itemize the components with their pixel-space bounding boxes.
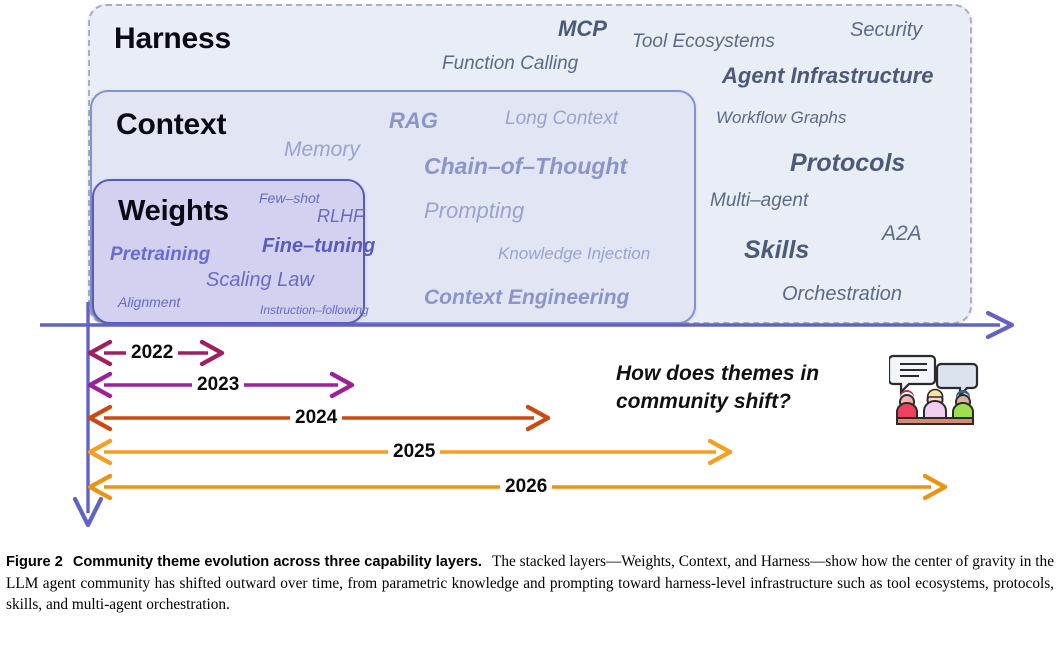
caption-figure-label: Figure 2 (6, 554, 63, 570)
community-discussion-icon (889, 352, 981, 428)
year-label-2024: 2024 (290, 407, 342, 429)
figure-canvas: Harness Context Weights MCPTool Ecosyste… (0, 0, 1060, 545)
timeline-axes (0, 0, 1060, 545)
question-annotation: How does themes in community shift? (616, 360, 886, 417)
year-label-2022: 2022 (126, 342, 178, 364)
year-label-2026: 2026 (500, 476, 552, 498)
year-label-2025: 2025 (388, 441, 440, 463)
figure-caption: Figure 2Community theme evolution across… (0, 551, 1060, 616)
year-label-2023: 2023 (192, 374, 244, 396)
caption-bold-title: Community theme evolution across three c… (73, 554, 482, 570)
